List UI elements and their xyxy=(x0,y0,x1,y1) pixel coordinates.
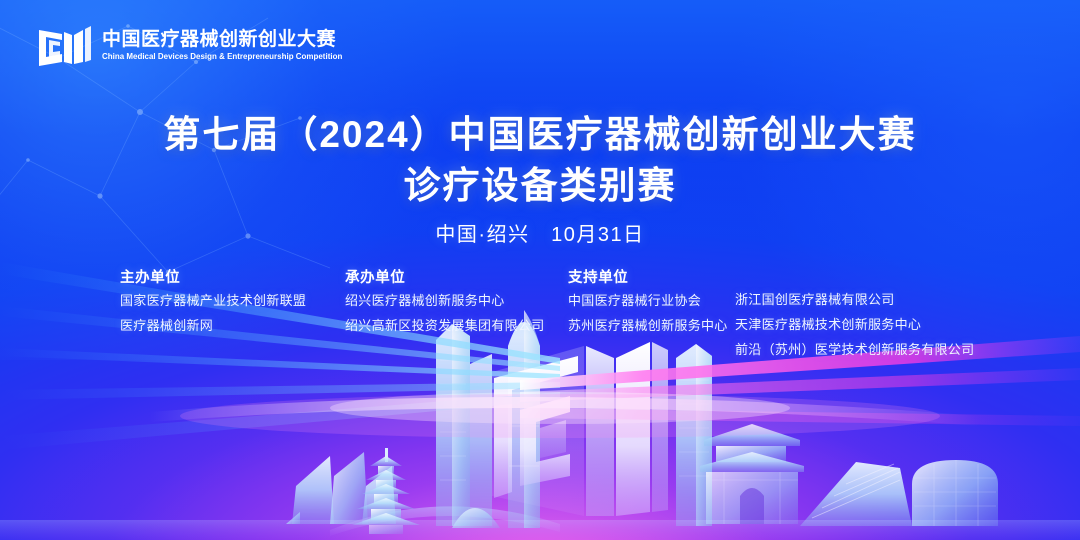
organizer-name: 天津医疗器械技术创新服务中心 xyxy=(735,318,974,331)
organizer-name: 浙江国创医疗器械有限公司 xyxy=(735,293,974,306)
traditional-gate-tower xyxy=(700,424,804,524)
event-title-line-2: 诊疗设备类别赛 xyxy=(0,163,1080,209)
event-title-line-1: 第七届（2024）中国医疗器械创新创业大赛 xyxy=(0,112,1080,158)
logo-text-block: 中国医疗器械创新创业大赛 China Medical Devices Desig… xyxy=(102,29,350,63)
organizers-block: 主办单位 国家医疗器械产业技术创新联盟 医疗器械创新网 承办单位 绍兴医疗器械创… xyxy=(0,266,1080,366)
organizer-heading: 主办单位 xyxy=(120,266,306,287)
conference-banner: 中国医疗器械创新创业大赛 China Medical Devices Desig… xyxy=(0,0,1080,540)
organizer-column-organizer: 承办单位 绍兴医疗器械创新服务中心 绍兴高新区投资发展集团有限公司 xyxy=(345,266,545,344)
open-book-logo-mark xyxy=(38,22,92,70)
organizer-column-supporter-extra: 浙江国创医疗器械有限公司 天津医疗器械技术创新服务中心 前沿（苏州）医学技术创新… xyxy=(735,293,974,368)
organizer-name: 苏州医疗器械创新服务中心 xyxy=(568,319,728,332)
organizer-column-supporter: 支持单位 中国医疗器械行业协会 苏州医疗器械创新服务中心 xyxy=(568,266,728,344)
organizer-name: 中国医疗器械行业协会 xyxy=(568,294,728,307)
logo-english-name: China Medical Devices Design & Entrepren… xyxy=(102,52,342,63)
competition-logo[interactable]: 中国医疗器械创新创业大赛 China Medical Devices Desig… xyxy=(38,22,350,70)
logo-chinese-name: 中国医疗器械创新创业大赛 xyxy=(102,29,350,50)
event-location-date: 中国·绍兴 10月31日 xyxy=(0,218,1080,247)
logo-monument xyxy=(492,342,668,516)
organizer-name: 医疗器械创新网 xyxy=(120,319,306,332)
oval-stadium xyxy=(912,460,998,526)
organizer-heading: 承办单位 xyxy=(345,266,545,287)
organizer-name: 绍兴高新区投资发展集团有限公司 xyxy=(345,319,545,332)
organizer-heading: 支持单位 xyxy=(568,266,728,287)
organizer-column-host: 主办单位 国家医疗器械产业技术创新联盟 医疗器械创新网 xyxy=(120,266,306,344)
organizer-name: 国家医疗器械产业技术创新联盟 xyxy=(120,294,306,307)
organizer-name: 前沿（苏州）医学技术创新服务有限公司 xyxy=(735,343,974,356)
organizer-name: 绍兴医疗器械创新服务中心 xyxy=(345,294,545,307)
stepped-pyramid xyxy=(800,462,912,526)
